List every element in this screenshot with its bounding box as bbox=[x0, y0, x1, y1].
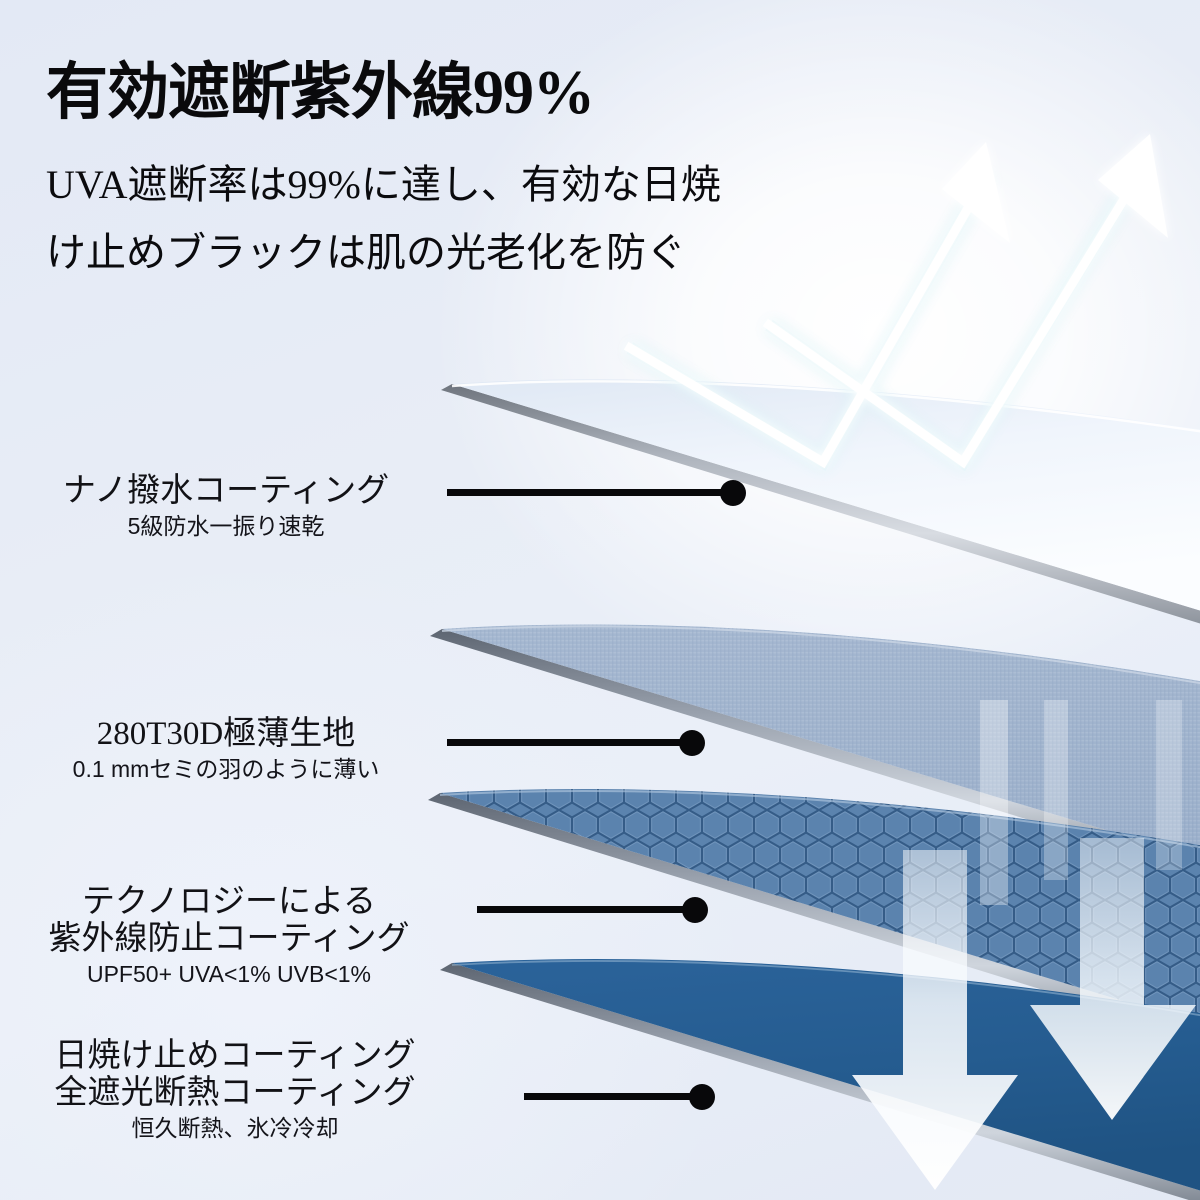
callout-1-title: ナノ撥水コーティング bbox=[0, 473, 452, 510]
leader-dot-4 bbox=[689, 1084, 715, 1110]
infographic-canvas: 有効遮断紫外線99% UVA遮断率は99%に達し、有効な日焼 け止めブラックは肌… bbox=[0, 0, 1200, 1200]
subtitle-line-1: UVA遮断率は99%に達し、有効な日焼 bbox=[46, 165, 721, 205]
callout-nano-water-repellent: ナノ撥水コーティング 5級防水一振り速乾 bbox=[0, 473, 452, 541]
callout-4-subtitle: 恒久断熱、氷冷冷却 bbox=[0, 1115, 470, 1143]
callout-2-title: 280T30D極薄生地 bbox=[0, 716, 452, 753]
callout-ultra-thin-fabric: 280T30D極薄生地 0.1 mmセミの羽のように薄い bbox=[0, 716, 452, 784]
leader-dot-2 bbox=[679, 730, 705, 756]
reflected-uv-arrow-glow bbox=[630, 165, 1143, 462]
leader-line-3 bbox=[477, 906, 697, 913]
callout-uv-blocking-coating: テクノロジーによる 紫外線防止コーティング UPF50+ UVA<1% UVB<… bbox=[0, 884, 458, 989]
leader-dot-3 bbox=[682, 897, 708, 923]
subtitle-line-2: け止めブラックは肌の光老化を防ぐ bbox=[46, 233, 686, 273]
callout-3-title-line-2: 紫外線防止コーティング bbox=[0, 921, 458, 958]
callout-4-title-line-1: 日焼け止めコーティング bbox=[0, 1038, 470, 1075]
callout-3-subtitle: UPF50+ UVA<1% UVB<1% bbox=[0, 961, 458, 989]
leader-line-1 bbox=[447, 489, 735, 496]
callout-sunscreen-insulation-coating: 日焼け止めコーティング 全遮光断熱コーティング 恒久断熱、氷冷冷却 bbox=[0, 1038, 470, 1143]
leader-line-4 bbox=[524, 1093, 704, 1100]
callout-1-subtitle: 5級防水一振り速乾 bbox=[0, 513, 452, 541]
leader-line-2 bbox=[447, 739, 694, 746]
leader-dot-1 bbox=[720, 480, 746, 506]
page-title: 有効遮断紫外線99% bbox=[46, 62, 594, 124]
callout-4-title-line-2: 全遮光断熱コーティング bbox=[0, 1075, 470, 1112]
callout-3-title-line-1: テクノロジーによる bbox=[0, 884, 458, 921]
callout-2-subtitle: 0.1 mmセミの羽のように薄い bbox=[0, 756, 452, 784]
